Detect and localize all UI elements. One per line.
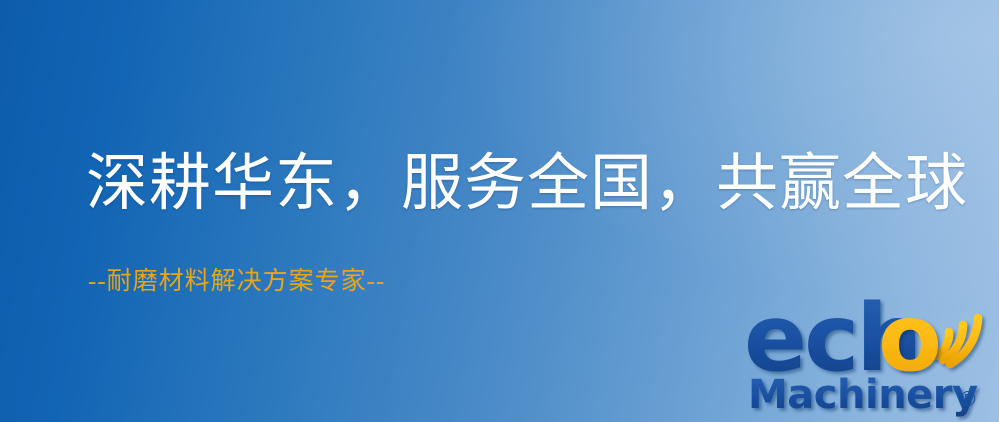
registered-trademark-icon: ® <box>958 387 978 411</box>
page-title: 深耕华东，服务全国，共赢全球 <box>86 152 968 218</box>
hero-banner: 深耕华东，服务全国，共赢全球 --耐磨材料解决方案专家-- <box>0 0 999 422</box>
wifi-signal-arcs-icon <box>936 318 978 364</box>
company-logo[interactable]: ech o Machinery ® <box>744 292 999 422</box>
logo-word-machinery: Machinery <box>748 372 978 418</box>
page-subtitle: --耐磨材料解决方案专家-- <box>88 268 385 296</box>
